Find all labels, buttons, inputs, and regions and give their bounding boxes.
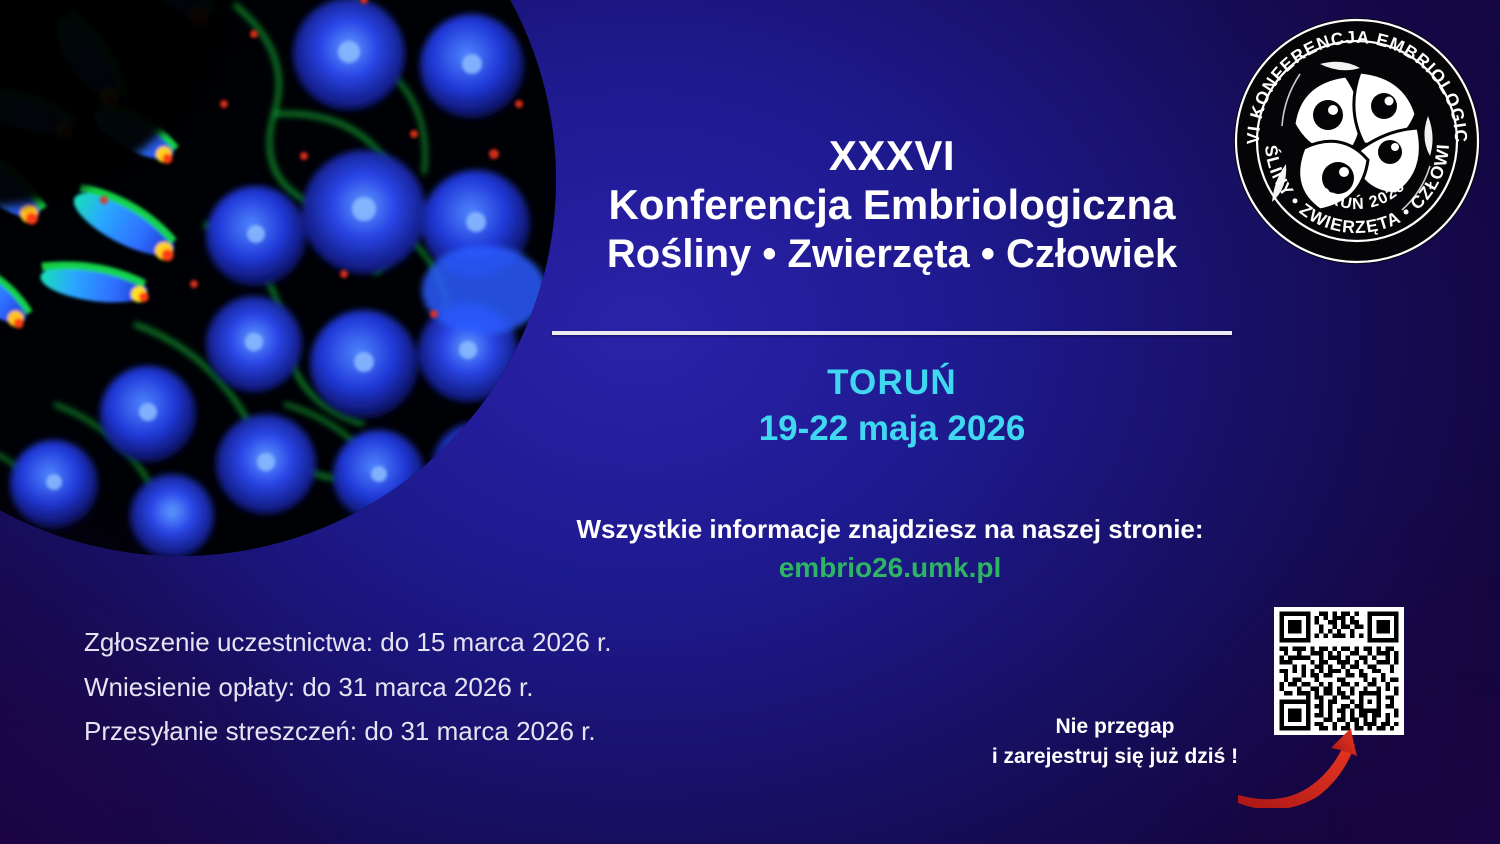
title-name: Konferencja Embriologiczna [550, 179, 1234, 230]
registration-qr-code[interactable] [1274, 607, 1404, 735]
event-dates: 19-22 maja 2026 [550, 404, 1234, 455]
title-edition: XXXVI [550, 132, 1234, 179]
cta-line-1: Nie przegap [950, 712, 1280, 742]
deadline-item: Zgłoszenie uczestnictwa: do 15 marca 202… [84, 620, 612, 665]
call-to-action: Nie przegap i zarejestruj się już dziś ! [950, 712, 1280, 773]
conference-logo: XXXVI KONFERENCJA EMBRIOLOGICZNA ROŚLINY… [1232, 16, 1482, 266]
deadline-item: Wniesienie opłaty: do 31 marca 2026 r. [84, 665, 612, 710]
website-info: Wszystkie informacje znajdziesz na nasze… [470, 513, 1310, 589]
event-place-date: TORUŃ 19-22 maja 2026 [550, 362, 1234, 455]
deadline-item: Przesyłanie streszczeń: do 31 marca 2026… [84, 709, 612, 754]
deadlines-list: Zgłoszenie uczestnictwa: do 15 marca 202… [84, 620, 612, 754]
title-scope: Rośliny • Zwierzęta • Człowiek [550, 230, 1234, 280]
conference-poster: XXXVI Konferencja Embriologiczna Rośliny… [0, 0, 1500, 844]
microscopy-image [0, 0, 556, 556]
event-city: TORUŃ [550, 362, 1234, 404]
website-label: Wszystkie informacje znajdziesz na nasze… [470, 513, 1310, 547]
qr-pointer-arrow [1236, 726, 1376, 808]
title-divider [552, 331, 1232, 335]
website-url[interactable]: embrio26.umk.pl [470, 547, 1310, 589]
conference-title: XXXVI Konferencja Embriologiczna Rośliny… [550, 132, 1234, 280]
cta-line-2: i zarejestruj się już dziś ! [950, 742, 1280, 772]
